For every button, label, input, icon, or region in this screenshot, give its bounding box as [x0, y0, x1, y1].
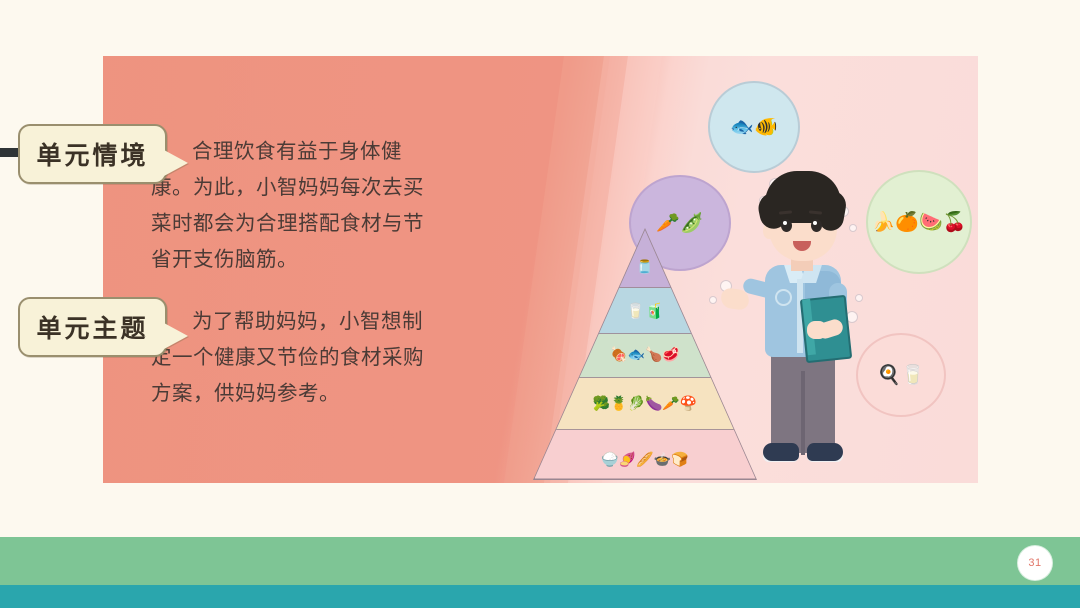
eye-left	[781, 219, 792, 232]
pyramid-tier-1-foods: 🫙	[637, 260, 653, 273]
pyramid-tier-5-foods: 🍚🍠🥖🍲🍞	[601, 452, 688, 466]
callout-unit-situation-label: 单元情境	[36, 136, 148, 172]
callout-unit-situation[interactable]: 单元情境	[18, 124, 167, 184]
body-text: 合理饮食有益于身体健康。为此，小智妈妈每次去买菜时都会为合理搭配食材与节省开支伤…	[151, 134, 441, 412]
right-shoe	[807, 443, 843, 461]
left-edge-tick	[0, 148, 18, 157]
leg-seam	[801, 371, 805, 455]
school-badge-icon	[775, 289, 792, 306]
callout-tail-icon	[164, 323, 188, 349]
slide-canvas: 合理饮食有益于身体健康。为此，小智妈妈每次去买菜时都会为合理搭配食材与节省开支伤…	[0, 0, 1080, 608]
bubble-fish-icon: 🐟🐠	[708, 81, 800, 173]
right-hand	[807, 321, 827, 339]
footer-band-green	[0, 537, 1080, 585]
left-shoe	[763, 443, 799, 461]
callout-unit-theme-label: 单元主题	[36, 309, 148, 345]
callout-unit-theme[interactable]: 单元主题	[18, 297, 167, 357]
eye-right	[811, 219, 822, 232]
hair	[765, 171, 841, 223]
pyramid-tier-3-foods: 🍖🐟🍗🥩	[610, 347, 680, 361]
paragraph-situation: 合理饮食有益于身体健康。为此，小智妈妈每次去买菜时都会为合理搭配食材与节省开支伤…	[151, 134, 441, 278]
paragraph-theme: 为了帮助妈妈，小智想制定一个健康又节俭的食材采购方案，供妈妈参考。	[151, 304, 441, 412]
pyramid-tier-4-foods: 🥦🍍🥬🍆🥕🍄	[593, 396, 698, 410]
callout-tail-icon	[164, 150, 188, 176]
pyramid-tier-2-foods: 🥛🧃	[626, 304, 663, 319]
character-boy	[713, 171, 893, 481]
illustration-panel: 合理饮食有益于身体健康。为此，小智妈妈每次去买菜时都会为合理搭配食材与节省开支伤…	[103, 56, 978, 483]
footer-band-teal	[0, 585, 1080, 608]
page-number-badge: 31	[1018, 546, 1052, 580]
